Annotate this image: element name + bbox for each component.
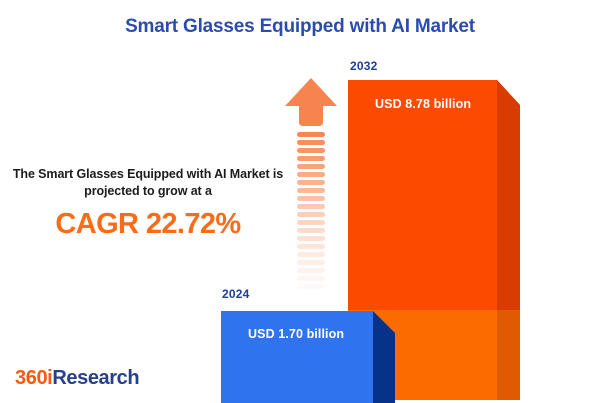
cagr-lead-text: The Smart Glasses Equipped with AI Marke… xyxy=(8,166,288,200)
cagr-value-text: CAGR 22.72% xyxy=(8,208,288,241)
year-label-2032: 2032 xyxy=(350,59,378,73)
logo-360i-text: 360i xyxy=(15,367,52,389)
logo-research-text: Research xyxy=(52,367,139,389)
cagr-callout: The Smart Glasses Equipped with AI Marke… xyxy=(8,166,288,241)
bar-value-2032: USD 8.78 billion xyxy=(375,97,471,111)
logo-360iresearch: 360iResearch xyxy=(15,367,139,390)
bar-value-2024: USD 1.70 billion xyxy=(248,327,344,341)
year-label-2024: 2024 xyxy=(222,287,250,301)
infographic-canvas: Smart Glasses Equipped with AI Market xyxy=(0,0,600,400)
upward-growth-arrow-icon xyxy=(283,76,339,296)
bar-2024 xyxy=(218,308,400,403)
page-title: Smart Glasses Equipped with AI Market xyxy=(0,16,600,38)
